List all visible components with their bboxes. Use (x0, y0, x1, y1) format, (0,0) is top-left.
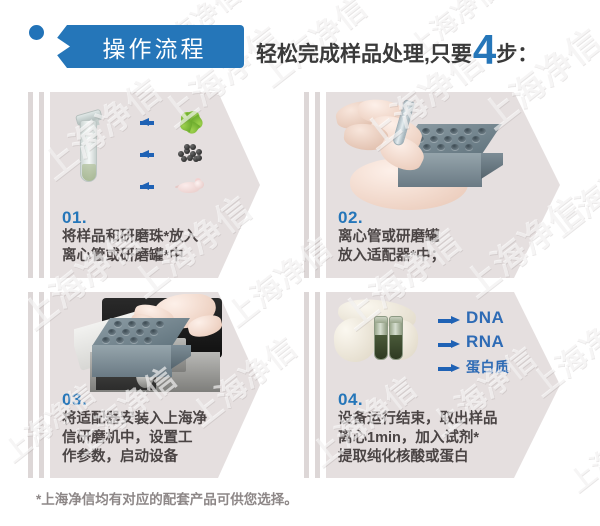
block-top-face (92, 318, 190, 346)
tube-cap (374, 316, 388, 323)
accent-bar (28, 92, 33, 278)
step-line: 离心管或研磨罐*中 (62, 247, 198, 266)
step-line: 将样品和研磨珠*放入 (62, 228, 198, 247)
block-side-face (481, 153, 503, 179)
grinding-beads-icon (176, 144, 204, 164)
block-side-face (171, 345, 191, 369)
step-line: 信研磨机中，设置工 (62, 429, 207, 448)
arrow-right-icon (438, 340, 460, 349)
step-number: 04. (338, 390, 363, 410)
arrow-left-icon (140, 118, 162, 127)
step-number: 02. (338, 208, 363, 228)
inserting-hand (336, 98, 446, 178)
arrow-right-icon (438, 316, 460, 325)
card-accent-bars (304, 92, 324, 278)
circle-dot-icon (29, 25, 44, 40)
tube-liquid (375, 335, 387, 359)
header: 操作流程 轻松完成样品处理,只要 4 步： (0, 0, 600, 84)
block-front-face (92, 345, 172, 377)
section-badge: 操作流程 (57, 25, 244, 68)
accent-bar (39, 292, 44, 478)
accent-bar (304, 92, 309, 278)
adapter-block (88, 318, 198, 380)
headline-part2: 步： (496, 38, 538, 68)
step-card-04: DNA RNA 蛋白质 04. 设备运行结束，取出样品 离心1min，加入试剂*… (304, 292, 560, 478)
step-line: 离心1min，加入试剂* (338, 429, 498, 448)
headline-part1: 轻松完成样品处理,只要 (256, 38, 472, 68)
output-label-rna: RNA (466, 332, 504, 352)
step-line: 设备运行结束，取出样品 (338, 410, 498, 429)
step-line: 提取纯化核酸或蛋白 (338, 448, 498, 467)
step-card-01: 01. 将样品和研磨珠*放入 离心管或研磨罐*中 (28, 92, 260, 278)
arrow-right-icon (438, 364, 460, 373)
step-description: 将样品和研磨珠*放入 离心管或研磨罐*中 (62, 228, 198, 266)
step-line: 将适配器安装入上海净 (62, 410, 207, 429)
watermark-text: 上海净信 (560, 403, 600, 499)
sample-tube-icon (374, 316, 388, 360)
step-card-03: 03. 将适配器安装入上海净 信研磨机中，设置工 作参数，启动设备 (28, 292, 260, 478)
step-description: 离心管或研磨罐 放入适配器*中； (338, 228, 445, 266)
mouse-tissue-icon (175, 176, 205, 196)
mouse-head (194, 180, 204, 189)
arrow-left-icon (140, 150, 162, 159)
footnote: *上海净信均有对应的配套产品可供您选择。 (36, 488, 298, 508)
headline-step-count: 4 (473, 29, 496, 71)
accent-bar (315, 92, 320, 278)
centrifuge-tube-icon (68, 106, 114, 196)
plant-leaf-icon (178, 109, 204, 135)
tube-cap (389, 316, 403, 323)
arrow-left-icon (140, 182, 162, 191)
page-title: 轻松完成样品处理,只要 4 步： (256, 26, 538, 70)
badge-label: 操作流程 (57, 25, 244, 68)
output-label-dna: DNA (466, 308, 504, 328)
step-01-illustration (62, 98, 232, 204)
step-line: 作参数，启动设备 (62, 448, 207, 467)
output-label-protein: 蛋白质 (466, 357, 510, 377)
step-number: 03. (62, 390, 87, 410)
step-line: 放入适配器*中； (338, 247, 445, 266)
tube-liquid (82, 164, 96, 181)
accent-bar (304, 292, 309, 478)
step-card-02: 02. 离心管或研磨罐 放入适配器*中； (304, 92, 560, 278)
card-accent-bars (28, 292, 48, 478)
accent-bar (28, 292, 33, 478)
step-description: 将适配器安装入上海净 信研磨机中，设置工 作参数，启动设备 (62, 410, 207, 467)
step-description: 设备运行结束，取出样品 离心1min，加入试剂* 提取纯化核酸或蛋白 (338, 410, 498, 467)
step-line: 离心管或研磨罐 (338, 228, 445, 247)
step-03-illustration (74, 294, 226, 394)
sample-tube-icon (389, 316, 403, 360)
infographic-root: 操作流程 轻松完成样品处理,只要 4 步： (0, 0, 600, 526)
step-number: 01. (62, 208, 87, 228)
step-04-illustration: DNA RNA 蛋白质 (332, 298, 532, 392)
card-accent-bars (28, 92, 48, 278)
accent-bar (39, 92, 44, 278)
accent-bar (315, 292, 320, 478)
tube-liquid (390, 335, 402, 359)
step-02-illustration (330, 92, 530, 212)
card-accent-bars (304, 292, 324, 478)
